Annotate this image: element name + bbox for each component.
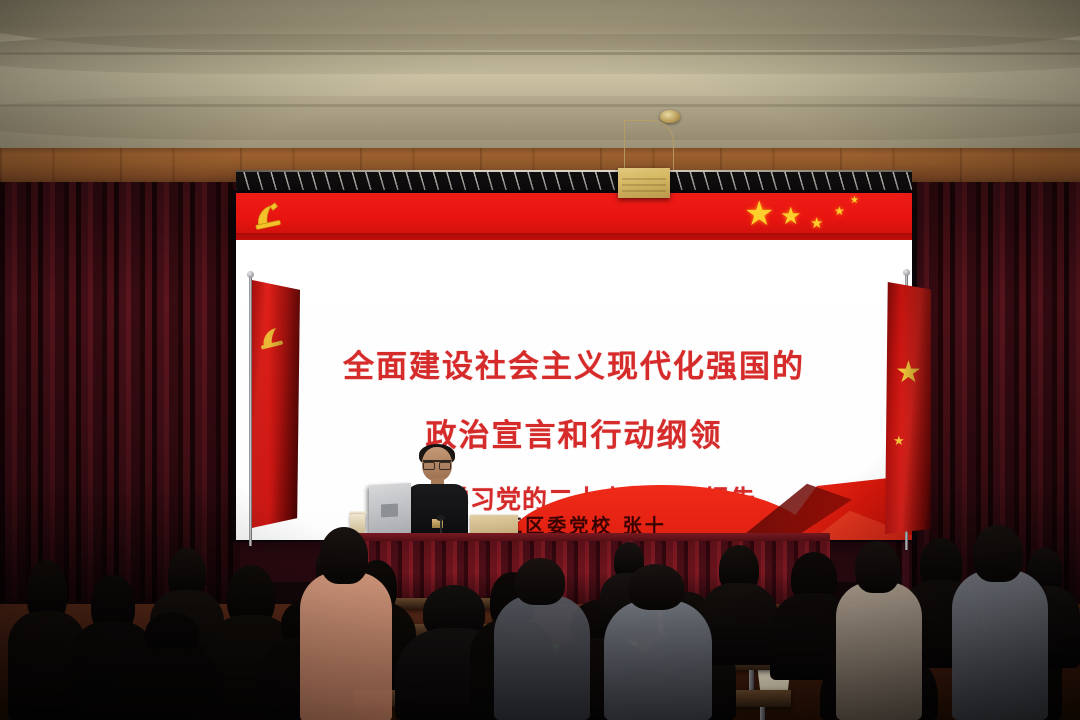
star-icon: ★ — [780, 205, 802, 229]
audience-member — [952, 570, 1048, 720]
audience-head — [973, 525, 1023, 582]
speaker-torso — [406, 484, 468, 539]
audience-member — [494, 595, 590, 720]
plaque-engraving — [622, 174, 666, 192]
stage-curtain-left — [0, 182, 240, 602]
audience-member — [604, 600, 712, 720]
flag-shading — [252, 280, 300, 528]
ceiling — [0, 0, 1080, 152]
papers-stack — [470, 515, 518, 535]
hanging-plaque — [618, 168, 670, 198]
audience-head — [515, 558, 565, 606]
speaker-person — [406, 447, 468, 537]
flagpole-cap-right — [903, 269, 910, 276]
ceiling-lamp-icon — [660, 110, 680, 123]
laptop-icon — [369, 483, 411, 535]
audience-member — [836, 582, 922, 720]
slide-top-banner: ★ ★ ★ ★ ★ — [236, 193, 912, 240]
star-icon: ★ — [850, 196, 859, 206]
cpc-hammer-sickle-icon — [252, 197, 290, 237]
ceiling-band — [0, 34, 1080, 74]
flagpole-cap-left — [247, 271, 254, 278]
flagpole-left — [249, 276, 252, 546]
audience-member — [300, 572, 392, 720]
prc-national-flag: ★ ★ — [885, 282, 931, 534]
audience-head — [628, 564, 684, 610]
desk-leg — [760, 707, 765, 720]
lecture-hall-photo: ★ ★ ★ ★ ★ 全面建设社会主义现代化强国的 政治宣言和行动纲领 ——学习党… — [0, 0, 1080, 720]
audience-head — [320, 527, 368, 584]
star-icon: ★ — [834, 205, 845, 217]
ceiling-band — [0, 96, 1080, 140]
audience-shoulders — [120, 647, 224, 720]
star-icon: ★ — [810, 216, 823, 231]
cpc-party-flag — [252, 280, 300, 528]
five-gold-stars-icon: ★ ★ ★ ★ ★ — [744, 196, 894, 238]
projection-screen: ★ ★ ★ ★ ★ 全面建设社会主义现代化强国的 政治宣言和行动纲领 ——学习党… — [236, 193, 912, 540]
flag-shading — [885, 282, 931, 534]
slide-title-line-2: 政治宣言和行动纲领 — [236, 410, 912, 455]
star-icon: ★ — [744, 197, 774, 231]
glasses-icon — [423, 460, 451, 468]
audience-head — [855, 541, 900, 593]
slide-title-line-1: 全面建设社会主义现代化强国的 — [236, 341, 912, 386]
slide-content: 全面建设社会主义现代化强国的 政治宣言和行动纲领 ——学习党的二十大的辅导报告 — [236, 240, 912, 540]
